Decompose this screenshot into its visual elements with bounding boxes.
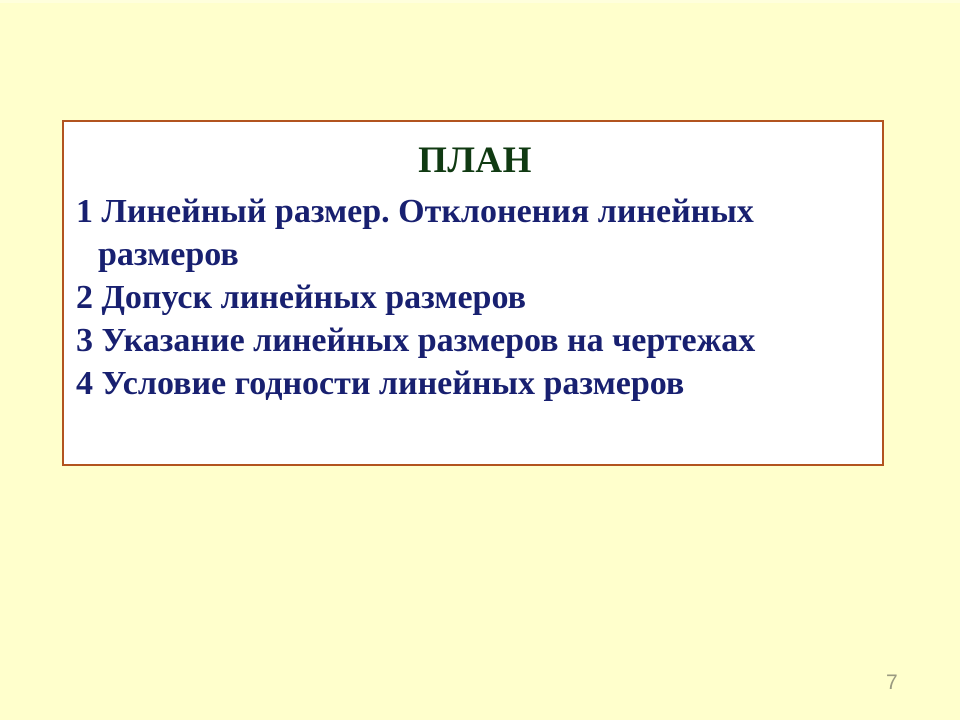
plan-list-line: 3 Указание линейных размеров на чертежах (76, 324, 755, 358)
plan-content-box: ПЛАН 1 Линейный размер. Отклонения линей… (62, 120, 884, 466)
plan-list-line-continuation: размеров (98, 238, 239, 272)
plan-list-line: 1 Линейный размер. Отклонения линейных (76, 195, 754, 229)
plan-list-line: 4 Условие годности линейных размеров (76, 367, 684, 401)
plan-list-line: 2 Допуск линейных размеров (76, 281, 526, 315)
page-number: 7 (886, 672, 922, 693)
plan-title: ПЛАН (64, 142, 886, 179)
presentation-slide: ПЛАН 1 Линейный размер. Отклонения линей… (0, 0, 960, 720)
